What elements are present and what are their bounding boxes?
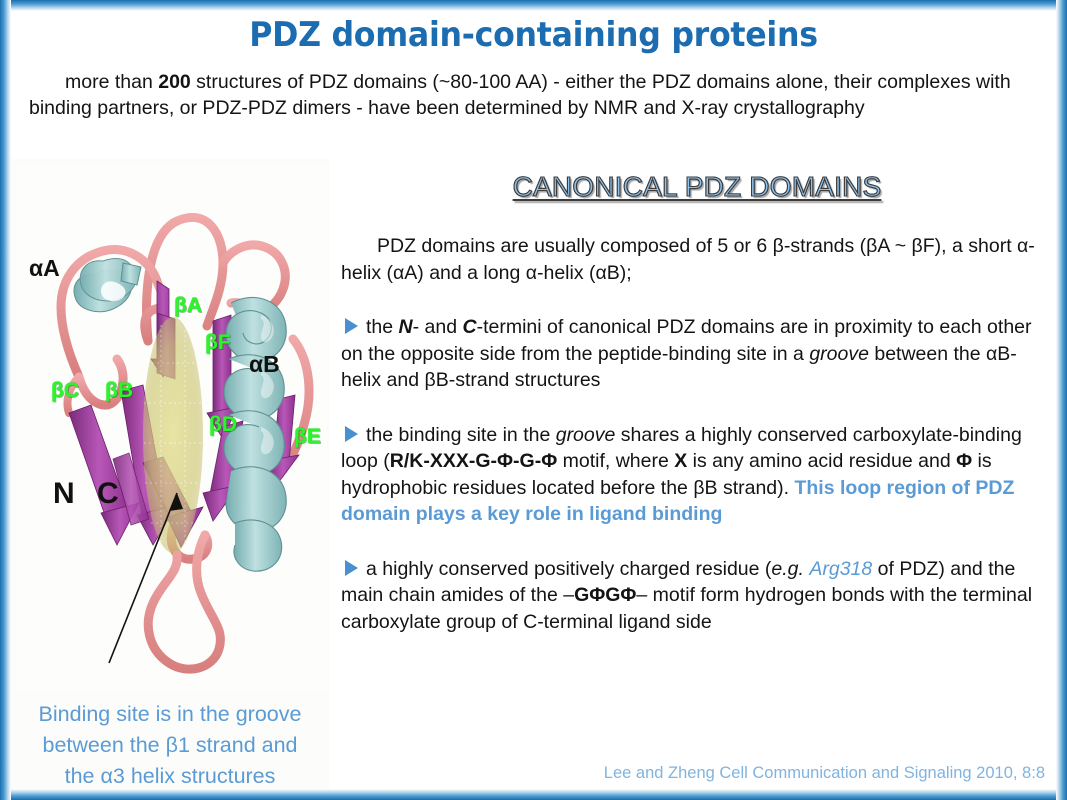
bullet1-seg2: - and — [413, 316, 463, 338]
figure-caption-line-3: the α3 helix structures — [11, 761, 329, 792]
section-heading: CANONICAL PDZ DOMAINS — [341, 171, 1053, 203]
bullet3-motif: GΦGΦ — [574, 584, 636, 606]
page-title: PDZ domain-containing proteins — [48, 15, 1020, 55]
bullet2-seg1: the binding site in the — [366, 424, 556, 446]
figure-caption: Binding site is in the groove between th… — [11, 699, 329, 792]
bullet2-phi: Φ — [956, 450, 972, 472]
bullet2-em-groove: groove — [556, 424, 616, 446]
bullet-triangle-icon — [345, 560, 358, 576]
intro-bold-number: 200 — [158, 71, 191, 93]
bullet2-x: X — [674, 450, 687, 472]
bullet-item-1: the N- and C-termini of canonical PDZ do… — [341, 314, 1053, 394]
bullet1-em-groove: groove — [809, 343, 869, 365]
figure-caption-line-1: Binding site is in the groove — [11, 699, 329, 730]
intro-text-part1: more than — [65, 71, 158, 93]
bullet-item-2: the binding site in the groove shares a … — [341, 422, 1053, 528]
slide-frame: PDZ domain-containing proteins more than… — [0, 0, 1067, 800]
bullet3-eg: e.g. — [771, 558, 804, 580]
content-column: CANONICAL PDZ DOMAINS PDZ domains are us… — [341, 161, 1053, 789]
protein-figure-column: αA βA βF αB βC βB βD βE N C Binding site… — [11, 159, 329, 789]
bullet-item-3: a highly conserved positively charged re… — [341, 556, 1053, 636]
pdz-ribbon-diagram — [17, 163, 327, 693]
bullet2-seg4: is any amino acid residue and — [687, 450, 956, 472]
bullet3-residue: Arg318 — [809, 558, 872, 580]
bullet-triangle-icon — [345, 318, 358, 334]
bullet-triangle-icon — [345, 426, 358, 442]
bullet1-seg1: the — [366, 316, 399, 338]
citation-footer: Lee and Zheng Cell Communication and Sig… — [604, 764, 1045, 783]
paragraph-intro: PDZ domains are usually composed of 5 or… — [341, 233, 1053, 286]
figure-caption-line-2: between the β1 strand and — [11, 730, 329, 761]
bullet3-seg1: a highly conserved positively charged re… — [366, 558, 771, 580]
bullet1-em-c: C — [463, 316, 477, 338]
intro-paragraph: more than 200 structures of PDZ domains … — [29, 69, 1041, 121]
bullet2-motif: R/K-XXX-G-Φ-G-Φ — [390, 450, 557, 472]
slide-inner: PDZ domain-containing proteins more than… — [11, 11, 1056, 789]
bullet1-em-n: N — [399, 316, 413, 338]
bullet2-seg3: motif, where — [557, 450, 674, 472]
